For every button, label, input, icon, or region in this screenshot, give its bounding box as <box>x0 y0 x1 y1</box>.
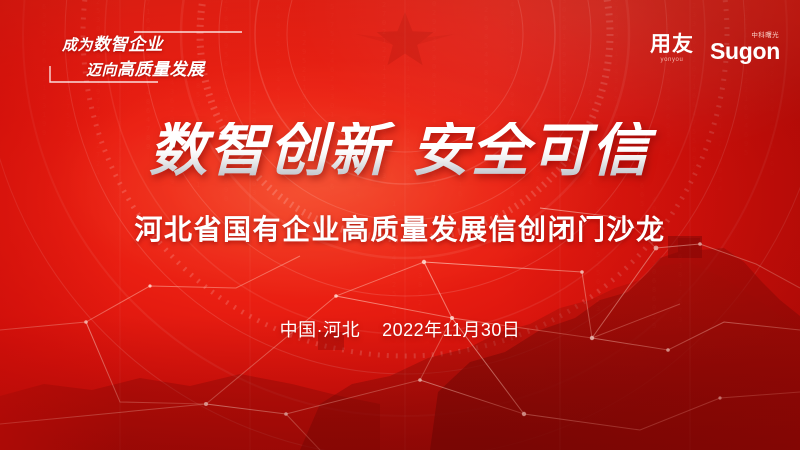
slogan-line-2-prefix: 迈向 <box>86 62 117 79</box>
slogan-line-2: 迈向高质量发展 <box>86 55 205 80</box>
slogan-line-1: 成为数智企业 <box>62 30 163 55</box>
sugon-logo: 中科曙光 Sugon <box>710 33 780 63</box>
headline-part-2: 安全可信 <box>411 118 651 183</box>
headline-part-1: 数智创新 <box>149 118 389 183</box>
sugon-logo-en: Sugon <box>710 40 780 63</box>
sugon-logo-cn: 中科曙光 <box>751 33 779 40</box>
slogan-line-1-emphasis: 数智企业 <box>93 35 163 54</box>
yonyou-logo-en: yonyou <box>650 57 694 63</box>
event-banner: 4 6 3 0 5 0 7 6 8 3 1 3 3 1 9 9 6 1 7 1 … <box>0 0 800 450</box>
slogan-block: 成为数智企业 迈向高质量发展 <box>46 26 246 88</box>
digital-rain-column: 1 6 3 8 1 7 8 7 3 <box>678 244 683 325</box>
slogan-line-1-prefix: 成为 <box>62 37 93 54</box>
dateline: 中国·河北2022年11月30日 <box>0 316 800 342</box>
yonyou-logo-cn: 用友 <box>650 34 694 55</box>
dateline-location: 中国·河北 <box>280 320 361 340</box>
yonyou-logo: 用友 yonyou <box>650 34 694 63</box>
headline: 数智创新安全可信 <box>0 122 800 180</box>
dateline-date: 2022年11月30日 <box>382 320 520 340</box>
subtitle: 河北省国有企业高质量发展信创闭门沙龙 <box>0 208 800 248</box>
digital-rain-column: 6 2 4 4 3 8 6 2 7 2 <box>418 236 423 326</box>
logo-group: 用友 yonyou 中科曙光 Sugon <box>650 33 780 63</box>
slogan-line-2-emphasis: 高质量发展 <box>117 60 205 79</box>
